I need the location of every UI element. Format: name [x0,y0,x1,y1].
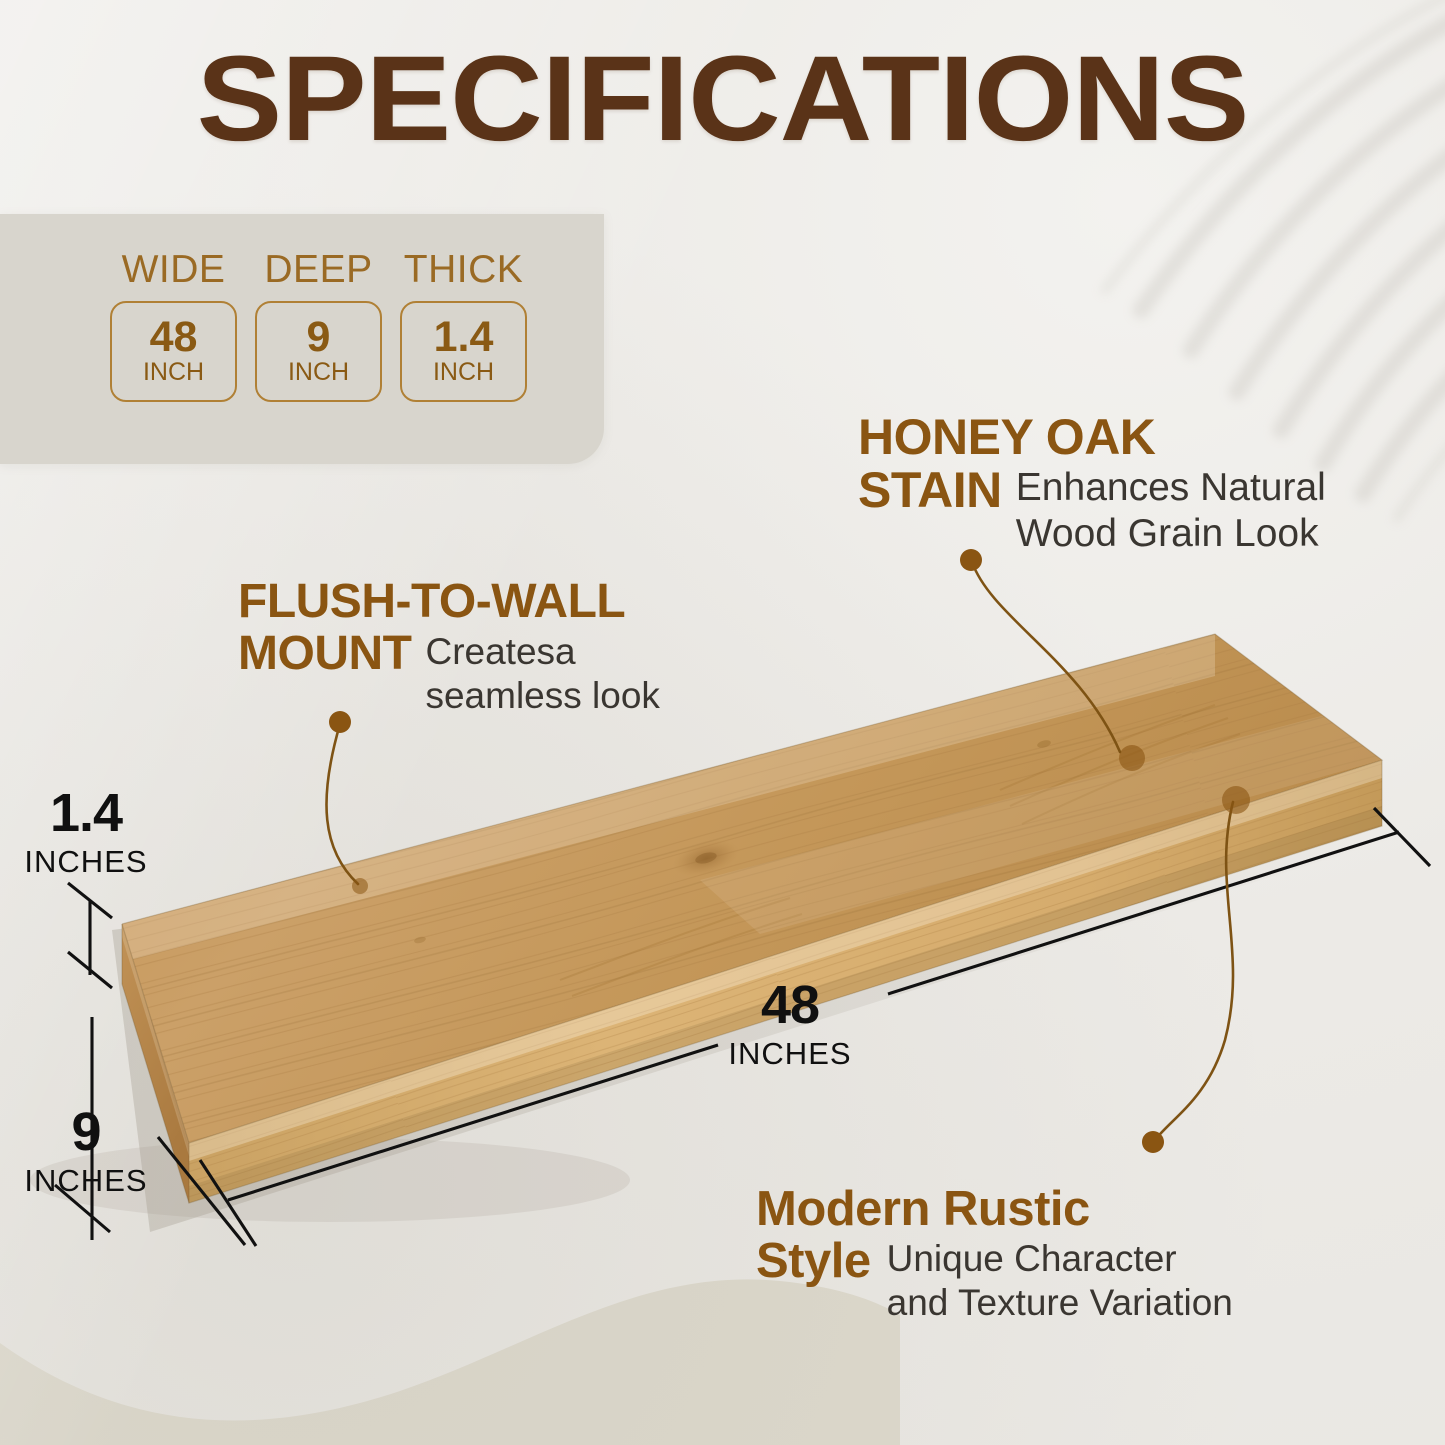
dimension-unit-width: INCHES [700,1035,880,1072]
spec-box-deep: 9 INCH [255,301,382,402]
callout-rustic-heading-line2: Style [756,1237,871,1287]
infographic-canvas: SPECIFICATIONS WIDE 48 INCH DEEP 9 INCH … [0,0,1445,1445]
callout-honey-sub-line2: Wood Grain Look [1016,512,1319,555]
spec-label-wide: WIDE [122,250,226,289]
spec-box-wide: 48 INCH [110,301,237,402]
callout-rustic-sub-line1: Unique Character [887,1237,1233,1281]
callout-flush-heading-line2: MOUNT [238,630,411,679]
callout-rustic-sub-line2: and Texture Variation [887,1281,1233,1325]
pointer-line-rustic [1155,802,1233,1140]
spec-value-deep: 9 [307,317,331,358]
dimension-label-width: 48 INCHES [700,978,880,1072]
dimension-label-depth: 9 INCHES [16,1105,156,1199]
spec-label-deep: DEEP [264,250,372,289]
spec-label-thick: THICK [404,250,524,289]
pointer-dot-rustic-label [1142,1131,1164,1153]
pointer-line-honey [972,562,1120,752]
callout-rustic-heading-line1: Modern Rustic [756,1185,1316,1235]
callout-honey-sub-line1: Enhances Natural [1016,466,1326,509]
spec-value-wide: 48 [150,317,198,358]
pointer-line-flush [326,724,358,884]
pointer-dot-honey-target [1119,745,1145,771]
spec-column-deep: DEEP 9 INCH [257,250,380,402]
spec-column-wide: WIDE 48 INCH [112,250,235,402]
dimension-line-width-left [228,1045,718,1200]
dimension-value-width: 48 [700,978,880,1032]
callout-honey-heading-line2: STAIN [858,465,1002,516]
pointer-dot-flush-target [352,878,368,894]
callout-flush-sub-line1: Createsa [425,630,659,674]
dimension-value-thickness: 1.4 [16,786,156,840]
spec-unit-thick: INCH [433,359,494,387]
dimension-label-thickness: 1.4 INCHES [16,786,156,880]
spec-unit-deep: INCH [288,359,349,387]
spec-value-thick: 1.4 [434,317,494,358]
spec-column-thick: THICK 1.4 INCH [402,250,525,402]
dimension-line-width-right [888,832,1399,994]
callout-honey-oak-stain: HONEY OAK STAIN Enhances Natural Wood Gr… [858,412,1388,557]
dimension-unit-depth: INCHES [16,1162,156,1199]
shelf-front-edge [104,646,1445,1276]
callout-modern-rustic-style: Modern Rustic Style Unique Character and… [756,1185,1316,1324]
callout-flush-sub-line2: seamless look [425,674,659,718]
dimension-unit-thickness: INCHES [16,843,156,880]
spec-box-thick: 1.4 INCH [400,301,527,402]
spec-unit-wide: INCH [143,359,204,387]
spec-summary-card: WIDE 48 INCH DEEP 9 INCH THICK 1.4 INCH [0,214,604,464]
pointer-dot-rustic-target [1222,786,1250,814]
callout-flush-to-wall-mount: FLUSH-TO-WALL MOUNT Createsa seamless lo… [238,578,758,717]
page-title: SPECIFICATIONS [0,38,1445,159]
dimension-value-depth: 9 [16,1105,156,1159]
callout-flush-heading-line1: FLUSH-TO-WALL [238,578,758,627]
callout-honey-heading-line1: HONEY OAK [858,409,1155,465]
